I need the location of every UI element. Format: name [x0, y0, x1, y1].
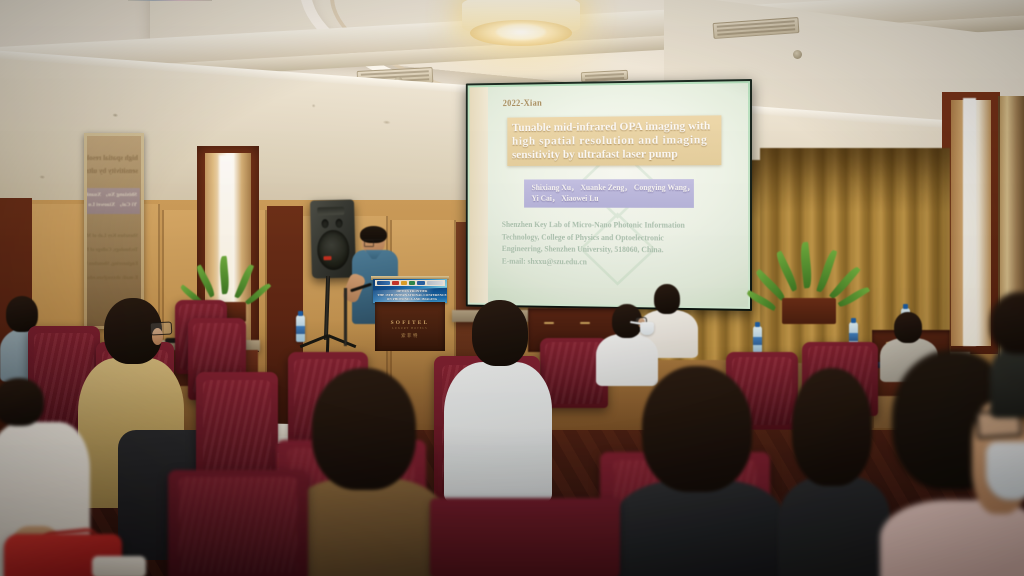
audience-person	[778, 368, 890, 576]
right-doorway-daylight	[963, 98, 976, 346]
banner-text-block: OPTICS FRONTIER THE 15TH INTERNATIONAL C…	[377, 289, 447, 301]
speaker-handle-hole	[335, 219, 342, 228]
screen-top-roller	[128, 0, 212, 1]
slide-author-band: Shixiang Xu， Xuanke Zeng， Congying Wang，…	[524, 179, 694, 208]
person-head	[642, 366, 752, 492]
chair	[168, 470, 308, 576]
white-item-on-floor	[92, 556, 146, 576]
slide-title-band: Tunable mid-infrared OPA imaging with hi…	[507, 115, 721, 166]
slide-title-line: sensitivity by ultrafast laser pump	[512, 146, 716, 161]
bottle-label	[849, 333, 858, 341]
slide-author-line: Shixiang Xu， Xuanke Zeng， Congying Wang，	[532, 182, 689, 193]
hotel-brand-mark: SOFITEL LUXURY HOTELS 索菲特	[375, 320, 445, 339]
slide-affiliation-line: E-mail: shxxu@szu.edu.cn	[502, 255, 722, 269]
hotel-brand-tagline: LUXURY HOTELS	[375, 327, 445, 330]
person-head	[792, 368, 872, 486]
slide-affiliation-line: Shenzhen Key Lab of Micro-Nano Photonic …	[502, 219, 722, 232]
person-torso	[990, 344, 1024, 418]
jbl-logo-icon	[323, 256, 331, 260]
sponsor-logo-icon	[417, 281, 425, 285]
water-bottle	[296, 315, 305, 342]
sponsor-logo-icon	[392, 281, 399, 285]
speaker-stand-legs	[300, 332, 356, 348]
pendant-ceiling-light	[462, 0, 580, 52]
sponsor-logo-icon	[401, 281, 407, 285]
bottle-cap	[903, 304, 908, 309]
slide-title-line: high spatial resolution and imaging	[512, 132, 716, 147]
lectern-podium: OPTICS FRONTIER THE 15TH INTERNATIONAL C…	[371, 276, 449, 351]
slide-affiliation-block: Shenzhen Key Lab of Micro-Nano Photonic …	[502, 219, 722, 270]
ciop-logo-icon	[377, 281, 390, 285]
person-head	[894, 312, 922, 343]
lamp-bulb-glow	[496, 24, 546, 40]
projection-screen: 2022-Xian Tunable mid-infrared OPA imagi…	[466, 79, 752, 311]
face-mask	[986, 442, 1024, 500]
sponsor-logo-row	[375, 280, 445, 286]
bottle-label	[296, 326, 305, 334]
eyeglasses-icon	[363, 239, 384, 244]
sprinkler-head-icon	[793, 50, 802, 59]
slide-left-margin	[470, 87, 488, 303]
bottle-cap	[755, 322, 760, 327]
pa-loudspeaker	[310, 199, 356, 278]
person-head	[472, 300, 528, 366]
speaker-handle-hole	[321, 219, 328, 228]
audience-person	[444, 300, 552, 490]
person-head	[990, 292, 1024, 354]
slide-author-line: Yi Cai， Xiaowei Lu	[532, 193, 689, 204]
person-head	[0, 378, 44, 426]
presentation-slide: 2022-Xian Tunable mid-infrared OPA imagi…	[470, 83, 749, 307]
microphone-stand	[344, 288, 347, 346]
person-torso	[778, 476, 890, 576]
hotel-brand-name: SOFITEL	[375, 320, 445, 326]
audience-person	[990, 292, 1024, 412]
plant-pot	[782, 298, 836, 324]
person-torso	[286, 478, 446, 576]
sponsor-text-block	[427, 281, 443, 285]
hotel-brand-chinese: 索菲特	[375, 333, 445, 339]
audience-person	[286, 368, 446, 576]
speaker-woofer	[317, 230, 350, 271]
audience-person	[614, 366, 784, 576]
bottle-cap	[298, 311, 303, 316]
person-torso	[614, 480, 784, 576]
conference-room-photo: high spatial resolution and imaging sens…	[0, 0, 1024, 576]
person-head	[312, 368, 416, 490]
eyeglasses-icon	[150, 321, 173, 335]
sponsor-logo-icon	[409, 281, 415, 285]
speaker-horn	[317, 207, 344, 216]
conference-banner: OPTICS FRONTIER THE 15TH INTERNATIONAL C…	[373, 279, 447, 303]
water-bottle	[753, 326, 762, 353]
potted-plant	[770, 246, 850, 320]
slide-conference-tag: 2022-Xian	[503, 98, 542, 108]
bottle-label	[753, 337, 762, 345]
bottle-cap	[851, 318, 856, 323]
person-torso	[444, 362, 552, 502]
chair-seat	[430, 498, 620, 576]
lectern-front-panel: SOFITEL LUXURY HOTELS 索菲特	[375, 302, 445, 351]
banner-subtitle: ON PHOTONICS AND IMAGING	[377, 297, 447, 301]
